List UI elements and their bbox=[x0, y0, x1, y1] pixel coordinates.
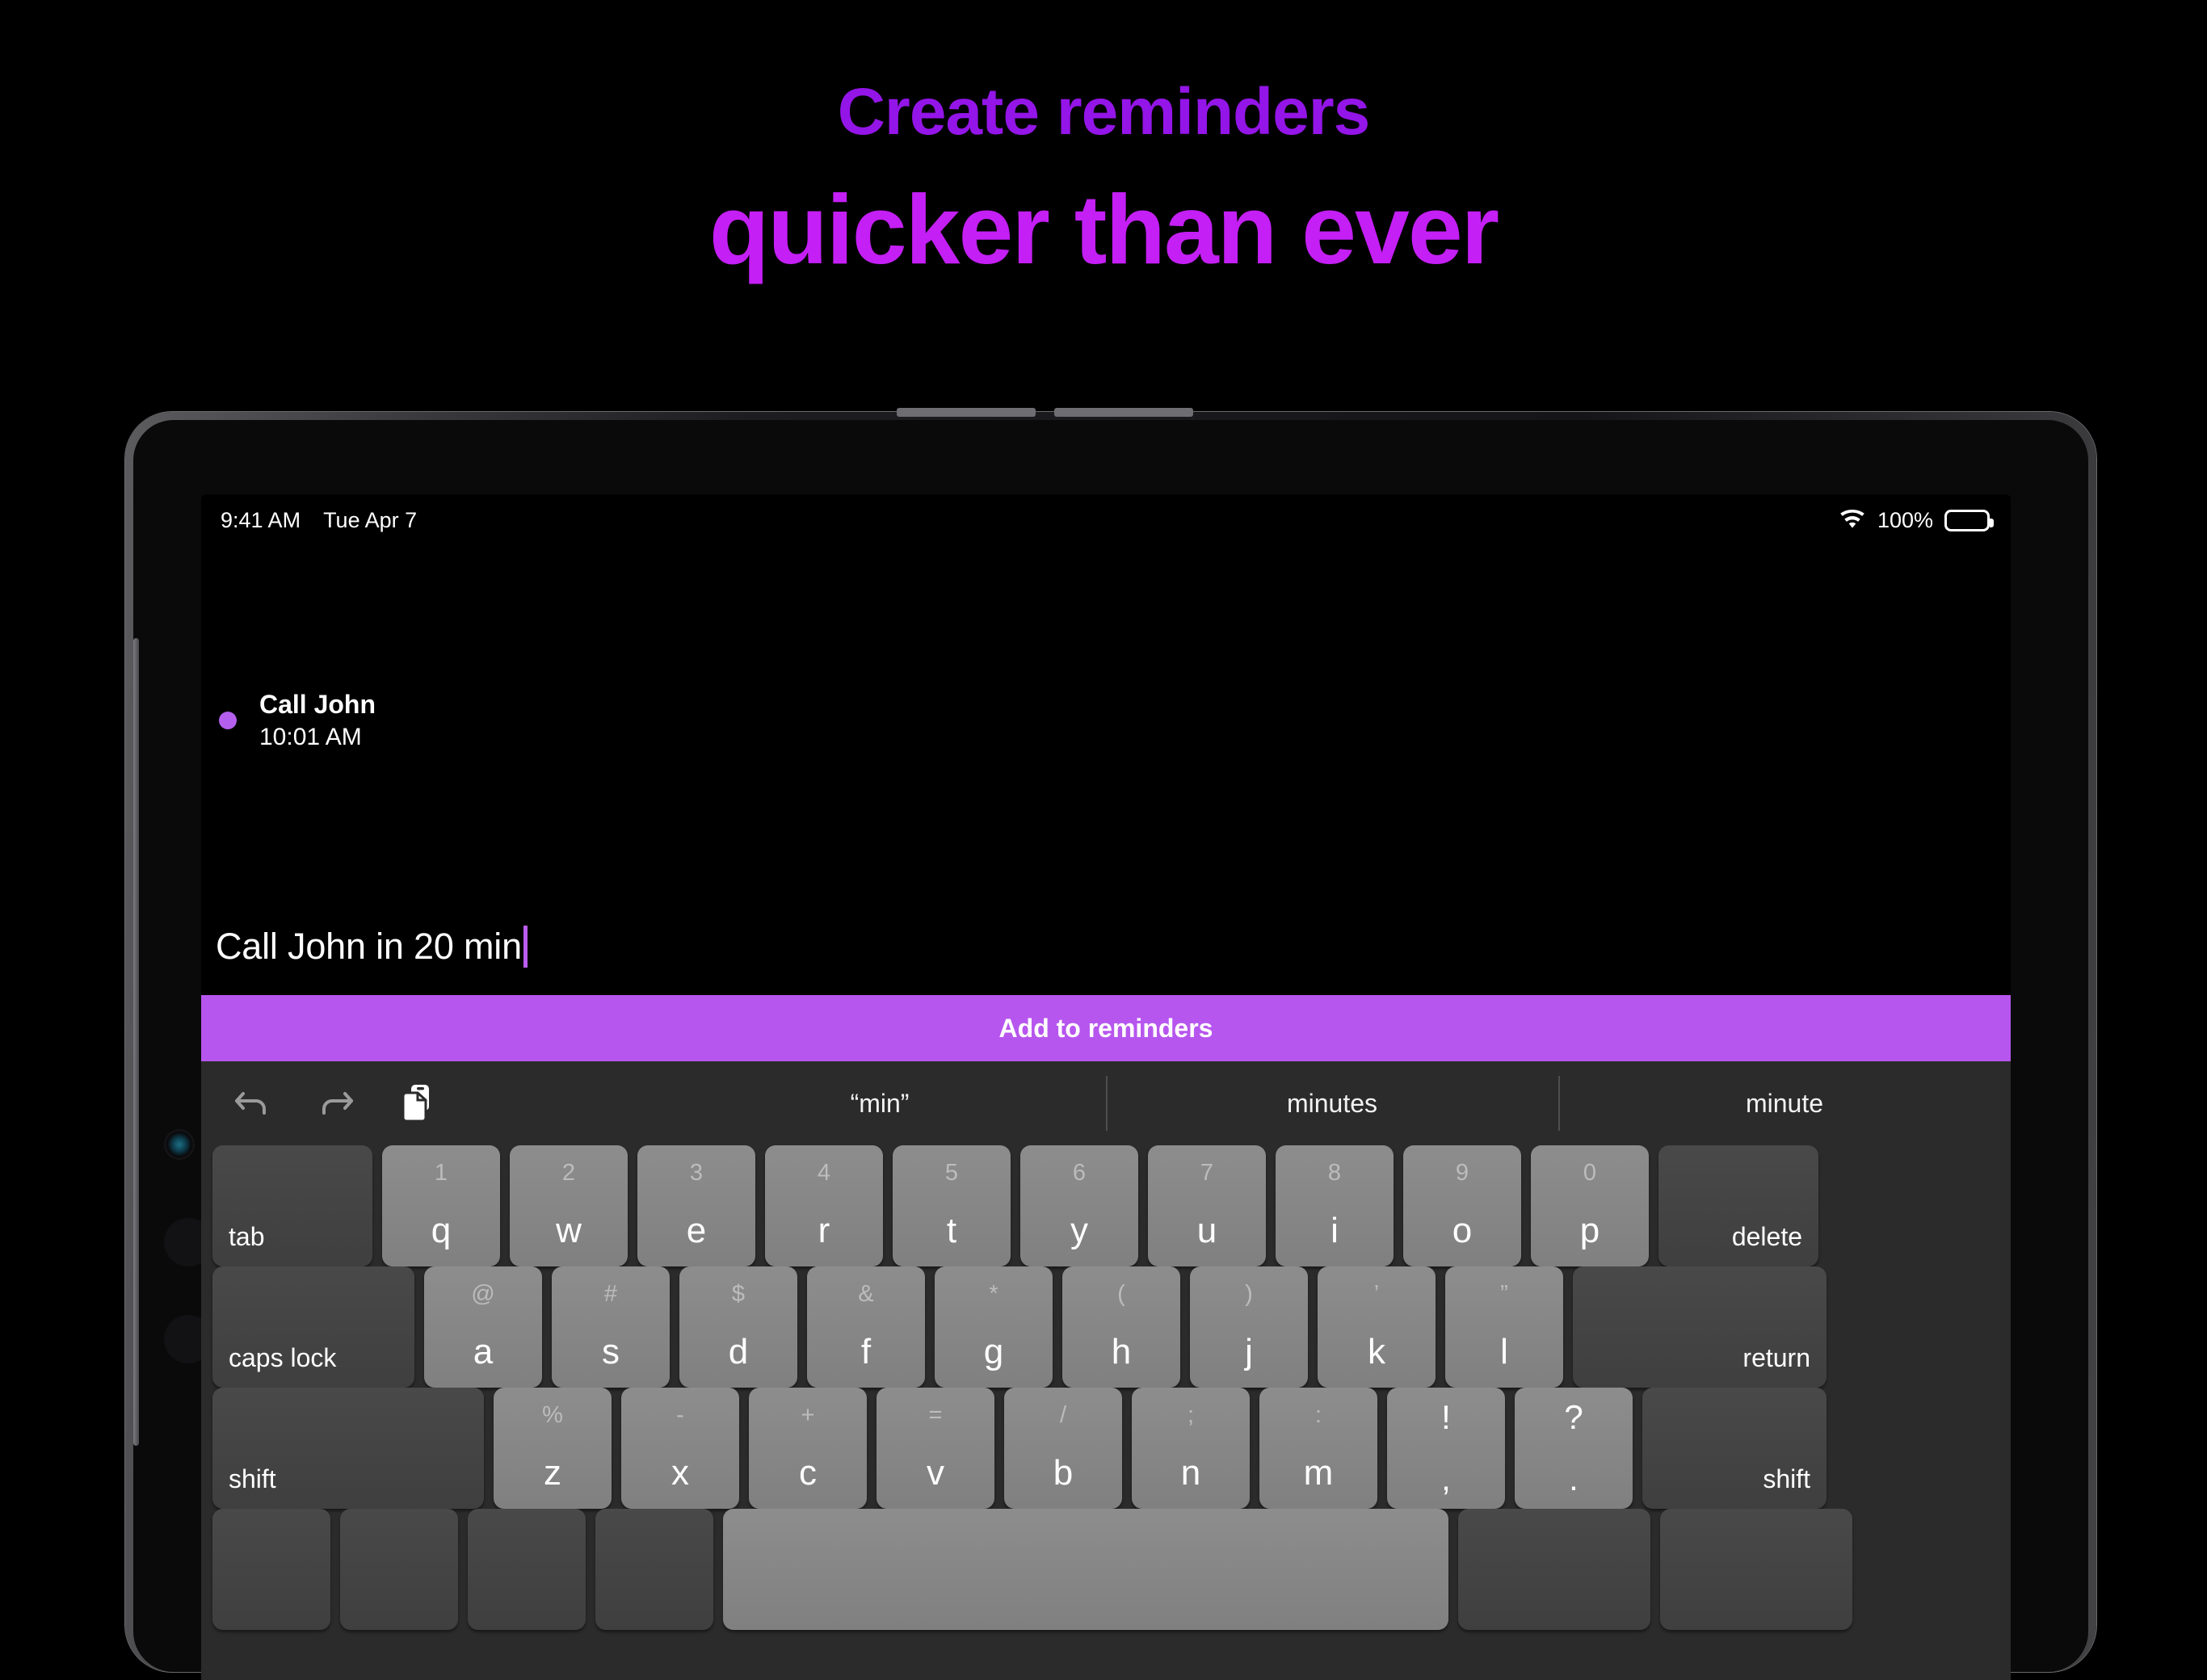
p-key-secondary-label: 0 bbox=[1531, 1161, 1649, 1185]
row-home: caps lock@a#s$d&f*g(h)j’k”lreturn bbox=[201, 1266, 2011, 1388]
keyboard-suggestion-bar: “min”minutesminute bbox=[201, 1061, 2011, 1145]
suggestion-0[interactable]: “min” bbox=[654, 1061, 1106, 1145]
p-key[interactable]: 0p bbox=[1531, 1145, 1649, 1266]
f-key-secondary-label: & bbox=[807, 1283, 925, 1306]
f-key-label: f bbox=[807, 1334, 925, 1370]
z-key-label: z bbox=[494, 1455, 612, 1491]
g-key[interactable]: *g bbox=[935, 1266, 1053, 1388]
v-key-label: v bbox=[876, 1455, 994, 1491]
o-key[interactable]: 9o bbox=[1403, 1145, 1521, 1266]
i-key[interactable]: 8i bbox=[1276, 1145, 1394, 1266]
k-key[interactable]: ’k bbox=[1318, 1266, 1436, 1388]
v-key-secondary-label: = bbox=[876, 1404, 994, 1427]
x-key-label: x bbox=[621, 1455, 739, 1491]
b-key[interactable]: /b bbox=[1004, 1388, 1122, 1509]
n-key-secondary-label: ; bbox=[1132, 1404, 1250, 1427]
text-caret bbox=[523, 926, 528, 968]
return-key-label: return bbox=[1742, 1343, 1810, 1373]
return-key[interactable]: return bbox=[1573, 1266, 1827, 1388]
status-bar-time: 9:41 AM bbox=[221, 508, 301, 533]
n-key-label: n bbox=[1132, 1455, 1250, 1491]
row-qwerty: tab1q2w3e4r5t6y7u8i9o0pdelete bbox=[201, 1145, 2011, 1266]
option-right-key[interactable] bbox=[1660, 1509, 1852, 1630]
device-side-rail bbox=[133, 638, 139, 1446]
i-key-label: i bbox=[1276, 1213, 1394, 1249]
d-key-secondary-label: $ bbox=[679, 1283, 797, 1306]
a-key[interactable]: @a bbox=[424, 1266, 542, 1388]
k-key-secondary-label: ’ bbox=[1318, 1283, 1436, 1306]
promo-headline: Create reminders quicker than ever bbox=[0, 0, 2207, 404]
tab-key[interactable]: tab bbox=[212, 1145, 372, 1266]
t-key[interactable]: 5t bbox=[893, 1145, 1011, 1266]
reminder-input-value: Call John in 20 min bbox=[216, 926, 522, 968]
exclaim-comma-key-label: , bbox=[1387, 1462, 1505, 1496]
promo-headline-line-2: quicker than ever bbox=[709, 178, 1498, 281]
promo-headline-line-1: Create reminders bbox=[838, 78, 1370, 147]
device-bezel: 9:41 AM Tue Apr 7 100% bbox=[133, 420, 2088, 1672]
t-key-label: t bbox=[893, 1213, 1011, 1249]
reminder-title: Call John bbox=[259, 688, 376, 720]
add-to-reminders-button[interactable]: Add to reminders bbox=[201, 995, 2011, 1061]
exclaim-comma-key[interactable]: !, bbox=[1387, 1388, 1505, 1509]
e-key-label: e bbox=[637, 1213, 755, 1249]
u-key[interactable]: 7u bbox=[1148, 1145, 1266, 1266]
reminder-text-input[interactable]: Call John in 20 min bbox=[201, 898, 2011, 995]
control-key[interactable] bbox=[340, 1509, 458, 1630]
list-item[interactable]: Call John 10:01 AM bbox=[201, 688, 2011, 754]
r-key-label: r bbox=[765, 1213, 883, 1249]
battery-percent-label: 100% bbox=[1877, 508, 1933, 533]
l-key[interactable]: ”l bbox=[1445, 1266, 1563, 1388]
z-key-secondary-label: % bbox=[494, 1404, 612, 1427]
suggestion-2[interactable]: minute bbox=[1558, 1061, 2011, 1145]
shift-right-key-label: shift bbox=[1763, 1464, 1810, 1494]
a-key-label: a bbox=[424, 1334, 542, 1370]
status-bar-right: 100% bbox=[1839, 508, 1990, 533]
space-key[interactable] bbox=[723, 1509, 1448, 1630]
wifi-icon bbox=[1839, 510, 1866, 531]
j-key-secondary-label: ) bbox=[1190, 1283, 1308, 1306]
q-key-secondary-label: 1 bbox=[382, 1161, 500, 1185]
b-key-secondary-label: / bbox=[1004, 1404, 1122, 1427]
m-key[interactable]: :m bbox=[1259, 1388, 1377, 1509]
b-key-label: b bbox=[1004, 1455, 1122, 1491]
l-key-label: l bbox=[1445, 1334, 1563, 1370]
volume-down-button[interactable] bbox=[1054, 408, 1193, 417]
question-period-key-secondary-label: ? bbox=[1515, 1401, 1633, 1434]
on-screen-keyboard: “min”minutesminute tab1q2w3e4r5t6y7u8i9o… bbox=[201, 1061, 2011, 1680]
front-camera-icon bbox=[166, 1131, 193, 1158]
row-shift: shift%z-x+c=v/b;n:m!,?.shift bbox=[201, 1388, 2011, 1509]
f-key[interactable]: &f bbox=[807, 1266, 925, 1388]
undo-icon[interactable] bbox=[232, 1086, 272, 1121]
reminder-list: Call John 10:01 AM bbox=[201, 688, 2011, 754]
x-key-secondary-label: - bbox=[621, 1404, 739, 1427]
q-key-label: q bbox=[382, 1213, 500, 1249]
g-key-label: g bbox=[935, 1334, 1053, 1370]
question-period-key-label: . bbox=[1515, 1462, 1633, 1496]
m-key-secondary-label: : bbox=[1259, 1404, 1377, 1427]
globe-key[interactable] bbox=[212, 1509, 330, 1630]
ipad-screen: 9:41 AM Tue Apr 7 100% bbox=[201, 494, 2011, 1680]
tab-key-label: tab bbox=[229, 1222, 264, 1252]
q-key[interactable]: 1q bbox=[382, 1145, 500, 1266]
d-key-label: d bbox=[679, 1334, 797, 1370]
shift-left-key-label: shift bbox=[229, 1464, 276, 1494]
volume-up-button[interactable] bbox=[897, 408, 1036, 417]
c-key-label: c bbox=[749, 1455, 867, 1491]
y-key-secondary-label: 6 bbox=[1020, 1161, 1138, 1185]
r-key[interactable]: 4r bbox=[765, 1145, 883, 1266]
caps-lock-key-label: caps lock bbox=[229, 1343, 336, 1373]
v-key[interactable]: =v bbox=[876, 1388, 994, 1509]
k-key-label: k bbox=[1318, 1334, 1436, 1370]
s-key-secondary-label: # bbox=[552, 1283, 670, 1306]
suggestion-1[interactable]: minutes bbox=[1106, 1061, 1558, 1145]
h-key-label: h bbox=[1062, 1334, 1180, 1370]
add-to-reminders-label: Add to reminders bbox=[999, 1014, 1213, 1044]
exclaim-comma-key-secondary-label: ! bbox=[1387, 1401, 1505, 1434]
j-key-label: j bbox=[1190, 1334, 1308, 1370]
c-key-secondary-label: + bbox=[749, 1404, 867, 1427]
i-key-secondary-label: 8 bbox=[1276, 1161, 1394, 1185]
e-key-secondary-label: 3 bbox=[637, 1161, 755, 1185]
o-key-label: o bbox=[1403, 1213, 1521, 1249]
battery-tip bbox=[1990, 519, 1994, 527]
keyboard-tools bbox=[232, 1083, 435, 1123]
r-key-secondary-label: 4 bbox=[765, 1161, 883, 1185]
u-key-label: u bbox=[1148, 1213, 1266, 1249]
p-key-label: p bbox=[1531, 1213, 1649, 1249]
n-key[interactable]: ;n bbox=[1132, 1388, 1250, 1509]
e-key[interactable]: 3e bbox=[637, 1145, 755, 1266]
question-period-key[interactable]: ?. bbox=[1515, 1388, 1633, 1509]
delete-key[interactable]: delete bbox=[1658, 1145, 1818, 1266]
c-key[interactable]: +c bbox=[749, 1388, 867, 1509]
status-bar-date: Tue Apr 7 bbox=[323, 508, 417, 533]
t-key-secondary-label: 5 bbox=[893, 1161, 1011, 1185]
y-key[interactable]: 6y bbox=[1020, 1145, 1138, 1266]
s-key-label: s bbox=[552, 1334, 670, 1370]
w-key[interactable]: 2w bbox=[510, 1145, 628, 1266]
redo-icon[interactable] bbox=[316, 1086, 356, 1121]
h-key[interactable]: (h bbox=[1062, 1266, 1180, 1388]
command-right-key[interactable] bbox=[1458, 1509, 1650, 1630]
o-key-secondary-label: 9 bbox=[1403, 1161, 1521, 1185]
g-key-secondary-label: * bbox=[935, 1283, 1053, 1306]
j-key[interactable]: )j bbox=[1190, 1266, 1308, 1388]
shift-right-key[interactable]: shift bbox=[1642, 1388, 1827, 1509]
battery-full-icon bbox=[1944, 510, 1990, 531]
delete-key-label: delete bbox=[1732, 1222, 1802, 1252]
y-key-label: y bbox=[1020, 1213, 1138, 1249]
shift-left-key[interactable]: shift bbox=[212, 1388, 484, 1509]
w-key-label: w bbox=[510, 1213, 628, 1249]
suggestion-strip: “min”minutesminute bbox=[654, 1061, 2011, 1145]
status-bar: 9:41 AM Tue Apr 7 100% bbox=[201, 494, 2011, 546]
keyboard-rows: tab1q2w3e4r5t6y7u8i9o0pdeletecaps lock@a… bbox=[201, 1145, 2011, 1630]
a-key-secondary-label: @ bbox=[424, 1283, 542, 1306]
status-bar-left: 9:41 AM Tue Apr 7 bbox=[221, 508, 417, 533]
w-key-secondary-label: 2 bbox=[510, 1161, 628, 1185]
m-key-label: m bbox=[1259, 1455, 1377, 1491]
row-bottom bbox=[201, 1509, 2011, 1630]
d-key[interactable]: $d bbox=[679, 1266, 797, 1388]
x-key[interactable]: -x bbox=[621, 1388, 739, 1509]
reminder-text-block: Call John 10:01 AM bbox=[259, 688, 376, 754]
command-left-key[interactable] bbox=[595, 1509, 713, 1630]
s-key[interactable]: #s bbox=[552, 1266, 670, 1388]
caps-lock-key[interactable]: caps lock bbox=[212, 1266, 414, 1388]
z-key[interactable]: %z bbox=[494, 1388, 612, 1509]
h-key-secondary-label: ( bbox=[1062, 1283, 1180, 1306]
reminder-time: 10:01 AM bbox=[259, 722, 376, 753]
ipad-device-frame: 9:41 AM Tue Apr 7 100% bbox=[125, 412, 2096, 1672]
l-key-secondary-label: ” bbox=[1445, 1283, 1563, 1306]
reminder-bullet-icon bbox=[219, 712, 237, 729]
option-left-key[interactable] bbox=[468, 1509, 586, 1630]
paste-icon[interactable] bbox=[400, 1083, 435, 1123]
u-key-secondary-label: 7 bbox=[1148, 1161, 1266, 1185]
